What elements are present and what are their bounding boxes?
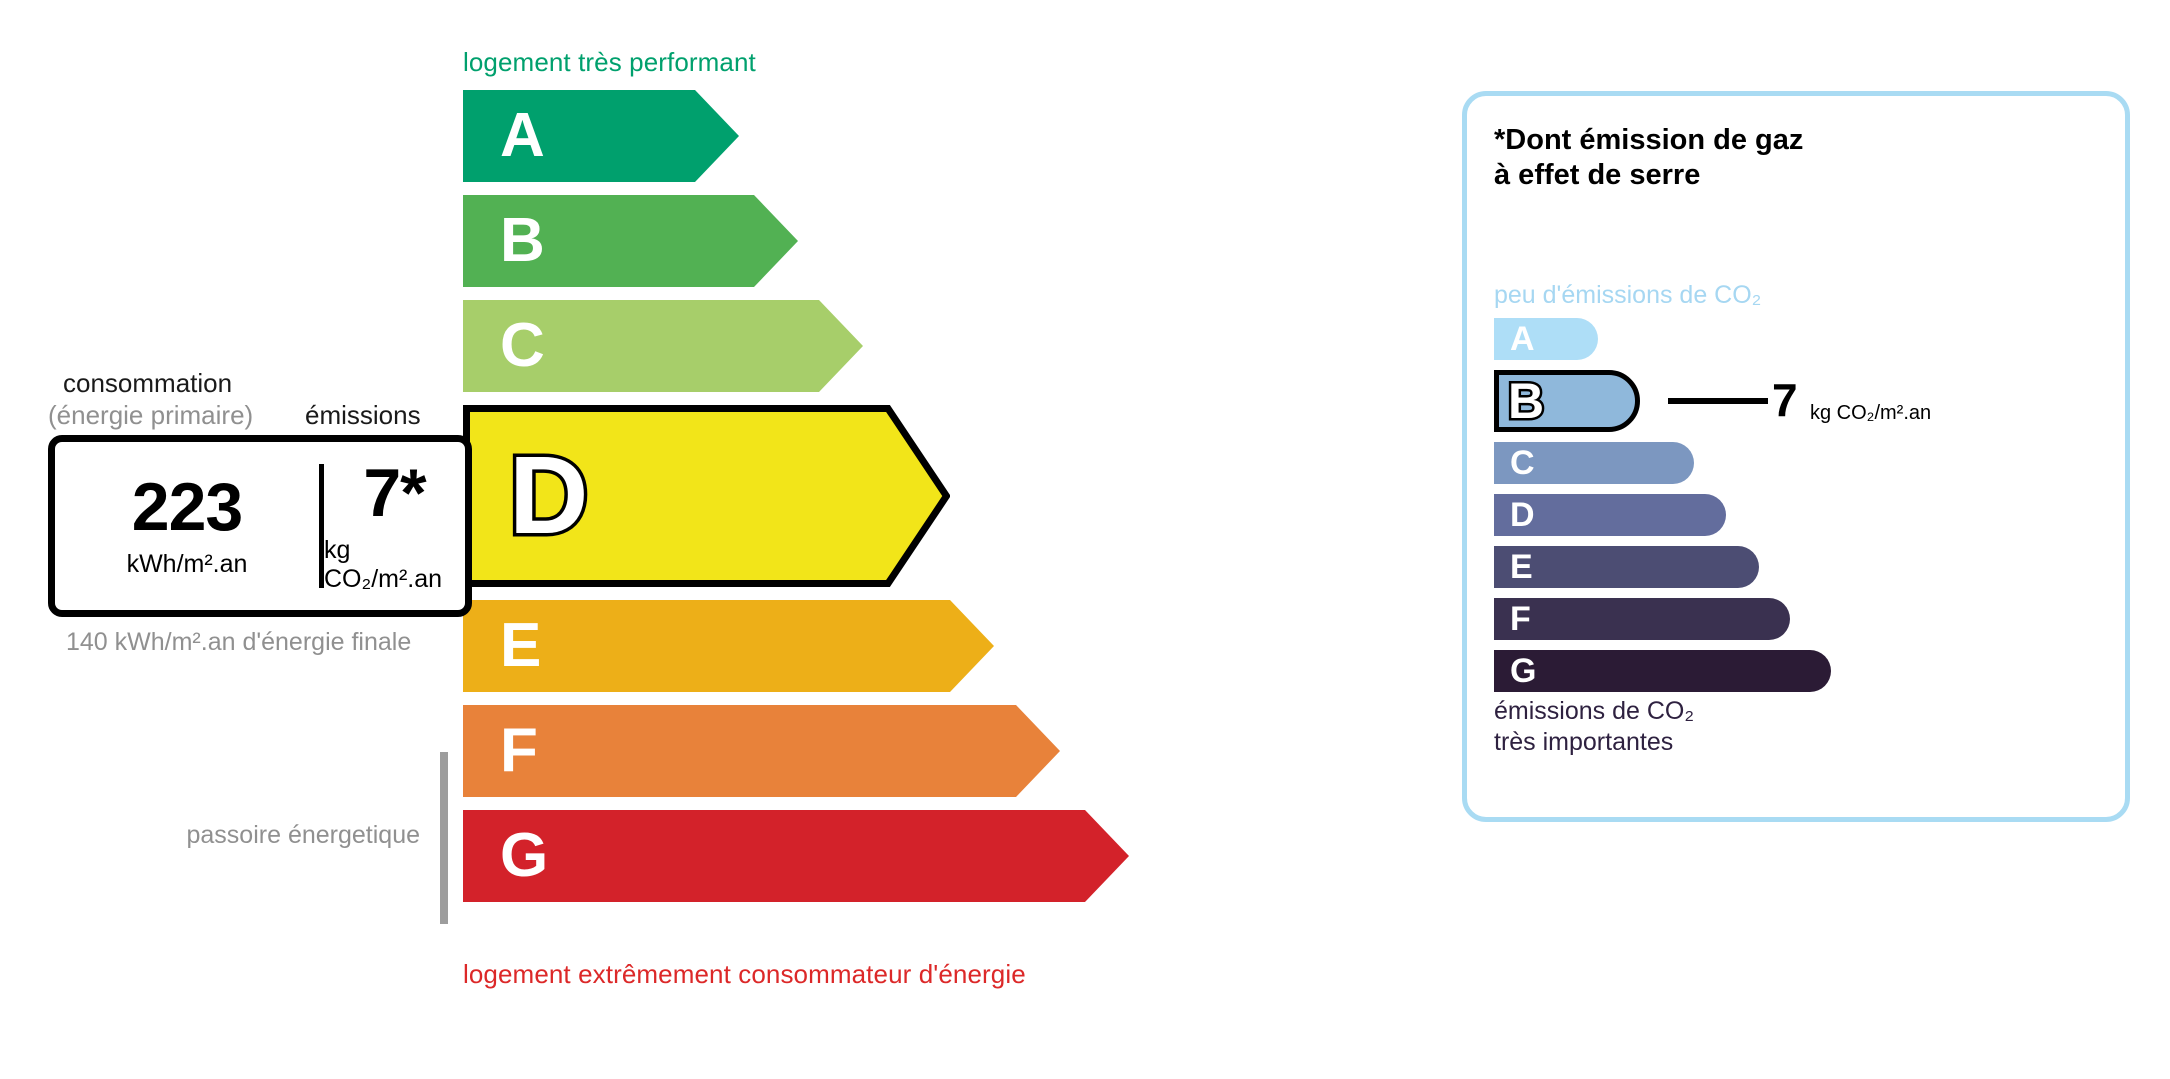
- energy-class-arrow-b: B: [463, 195, 754, 287]
- energy-consumption-unit: kWh/m².an: [127, 550, 248, 579]
- co2-emission-value-cell: 7* kg CO₂/m².an: [324, 442, 465, 610]
- energy-class-letter-f: F: [500, 720, 538, 782]
- co2-bar-shape-f: [1494, 598, 1790, 640]
- co2-class-letter-a: A: [1510, 320, 1535, 358]
- co2-class-bar-g: G: [1494, 650, 1831, 692]
- co2-class-bar-c: C: [1494, 442, 1694, 484]
- energy-class-arrow-f: F: [463, 705, 1016, 797]
- passoire-energetique-note: passoire énergetique: [180, 820, 420, 851]
- co2-callout-connector-line: [1668, 398, 1768, 404]
- energy-class-letter-c: C: [500, 315, 545, 377]
- co2-class-bar-d: D: [1494, 494, 1726, 536]
- co2-emission-unit: kg CO₂/m².an: [324, 536, 465, 594]
- co2-bar-shape-e: [1494, 546, 1759, 588]
- energy-class-letter-e: E: [500, 615, 541, 677]
- co2-class-bar-e: E: [1494, 546, 1759, 588]
- energy-class-arrow-d: D: [463, 405, 888, 587]
- co2-emission-value: 7*: [363, 459, 425, 527]
- co2-callout-value: 7: [1772, 377, 1798, 423]
- co2-class-letter-d: D: [1510, 496, 1535, 534]
- energy-class-arrow-c: C: [463, 300, 819, 392]
- label-emissions: émissions: [305, 400, 421, 431]
- dpe-value-box: 223 kWh/m².an 7* kg CO₂/m².an: [48, 435, 472, 617]
- label-consommation: consommation: [63, 368, 232, 399]
- energy-top-caption: logement très performant: [463, 47, 756, 78]
- co2-top-caption: peu d'émissions de CO₂: [1494, 281, 1761, 310]
- co2-panel-title: *Dont émission de gaz à effet de serre: [1494, 123, 1803, 193]
- co2-class-letter-e: E: [1510, 548, 1533, 586]
- energy-class-letter-a: A: [500, 105, 545, 167]
- energy-class-arrow-g: G: [463, 810, 1085, 902]
- passoire-energetique-bracket: [440, 752, 448, 924]
- energy-class-arrow-a: A: [463, 90, 695, 182]
- co2-class-letter-f: F: [1510, 600, 1531, 638]
- energy-consumption-value-cell: 223 kWh/m².an: [55, 442, 319, 610]
- co2-class-letter-c: C: [1510, 444, 1535, 482]
- energy-class-letter-g: G: [500, 825, 548, 887]
- co2-class-bar-b: B: [1494, 370, 1640, 432]
- co2-bottom-caption: émissions de CO₂ très importantes: [1494, 696, 1694, 757]
- co2-emission-panel: *Dont émission de gaz à effet de serre p…: [1462, 91, 2130, 822]
- energy-class-letter-d: D: [509, 441, 588, 551]
- energy-class-letter-b: B: [500, 210, 545, 272]
- energy-bottom-caption: logement extrêmement consommateur d'éner…: [463, 959, 1026, 990]
- energy-consumption-value: 223: [132, 473, 242, 541]
- co2-bar-shape-g: [1494, 650, 1831, 692]
- co2-callout-unit: kg CO₂/m².an: [1810, 402, 1931, 425]
- co2-class-bar-a: A: [1494, 318, 1598, 360]
- energy-performance-scale: logement très performant ABCDEFG logemen…: [0, 0, 1380, 1079]
- label-energie-primaire: (énergie primaire): [48, 400, 253, 431]
- co2-class-letter-g: G: [1510, 652, 1536, 690]
- co2-class-bar-f: F: [1494, 598, 1790, 640]
- energy-class-arrow-e: E: [463, 600, 950, 692]
- co2-class-letter-b: B: [1508, 373, 1544, 429]
- final-energy-note: 140 kWh/m².an d'énergie finale: [66, 627, 411, 658]
